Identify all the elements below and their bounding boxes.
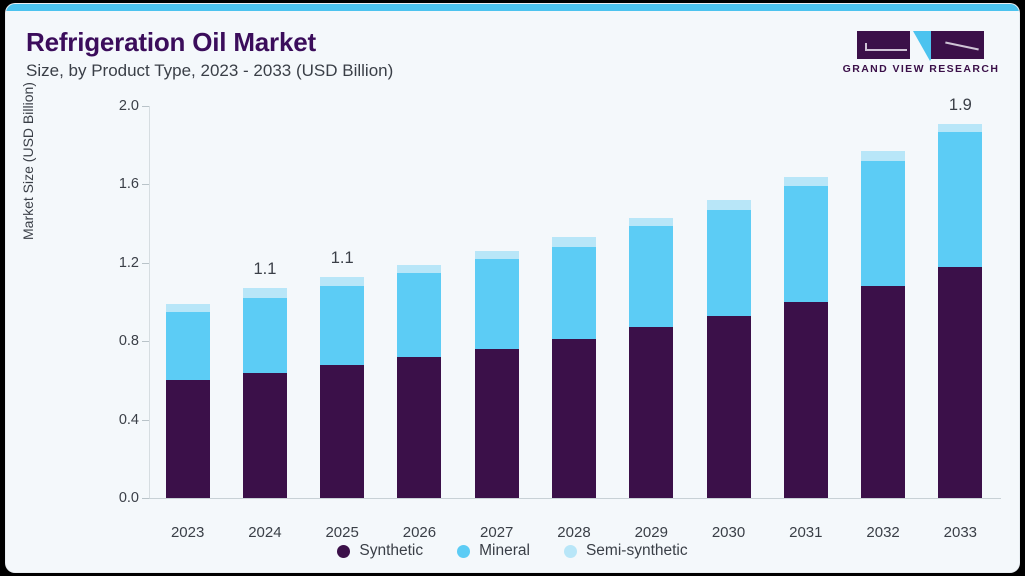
bar-segment-semi[interactable]: [320, 277, 364, 287]
x-axis-category-label: 2028: [535, 524, 612, 541]
y-tick-mark: [142, 498, 149, 499]
bar-segment-mineral[interactable]: [552, 247, 596, 339]
y-tick-label: 1.6: [119, 176, 139, 192]
page-subtitle: Size, by Product Type, 2023 - 2033 (USD …: [26, 61, 393, 81]
bar-stack[interactable]: [243, 288, 287, 498]
y-tick-mark: [142, 184, 149, 185]
y-tick-label: 2.0: [119, 98, 139, 114]
bar-segment-mineral[interactable]: [629, 226, 673, 328]
y-tick-label: 0.8: [119, 333, 139, 349]
bar-segment-semi[interactable]: [784, 177, 828, 187]
bar-segment-mineral[interactable]: [861, 161, 905, 286]
bar-stack[interactable]: [552, 237, 596, 498]
chart-card: Refrigeration Oil Market Size, by Produc…: [6, 4, 1019, 572]
x-axis-category-label: 2025: [304, 524, 381, 541]
bar-group[interactable]: [938, 106, 982, 498]
bar-segment-semi[interactable]: [861, 151, 905, 161]
bar-stack[interactable]: [475, 251, 519, 498]
bar-value-label: 1.1: [331, 249, 354, 268]
bar-segment-mineral[interactable]: [397, 273, 441, 357]
bar-segment-semi[interactable]: [552, 237, 596, 247]
bar-segment-synthetic[interactable]: [784, 302, 828, 498]
y-tick: 0.0: [149, 498, 999, 499]
bar-segment-mineral[interactable]: [938, 132, 982, 267]
y-axis-label: Market Size (USD Billion): [20, 40, 36, 240]
card-top-accent-bar: [6, 4, 1019, 11]
bar-group[interactable]: [166, 106, 210, 498]
bar-segment-mineral[interactable]: [320, 286, 364, 364]
chart-legend: SyntheticMineralSemi-synthetic: [6, 542, 1019, 560]
bar-stack[interactable]: [707, 200, 751, 498]
logo-wordmark: GRAND VIEW RESEARCH: [841, 63, 1001, 75]
y-tick-label: 1.2: [119, 255, 139, 271]
bar-group[interactable]: [243, 106, 287, 498]
bar-group[interactable]: [707, 106, 751, 498]
bar-stack[interactable]: [784, 177, 828, 498]
logo-right-rule: [945, 41, 979, 50]
legend-label: Synthetic: [359, 542, 423, 560]
y-tick-mark: [142, 420, 149, 421]
bar-value-label: 1.1: [253, 260, 276, 279]
bar-segment-synthetic[interactable]: [629, 327, 673, 498]
x-axis-category-label: 2027: [458, 524, 535, 541]
bar-segment-synthetic[interactable]: [166, 380, 210, 498]
bar-segment-semi[interactable]: [397, 265, 441, 273]
y-tick-label: 0.4: [119, 412, 139, 428]
bar-stack[interactable]: [938, 124, 982, 498]
bar-group[interactable]: [552, 106, 596, 498]
bar-stack[interactable]: [166, 304, 210, 498]
bar-group[interactable]: [629, 106, 673, 498]
bar-segment-synthetic[interactable]: [707, 316, 751, 498]
logo-box-left-icon: [857, 31, 910, 59]
bar-group[interactable]: [397, 106, 441, 498]
stacked-bar-chart: Market Size (USD Billion) 0.00.40.81.21.…: [6, 90, 1019, 572]
page-title: Refrigeration Oil Market: [26, 27, 316, 58]
bar-stack[interactable]: [320, 277, 364, 498]
x-axis-category-label: 2030: [690, 524, 767, 541]
legend-label: Semi-synthetic: [586, 542, 688, 560]
bar-segment-synthetic[interactable]: [938, 267, 982, 498]
bar-segment-semi[interactable]: [938, 124, 982, 132]
bar-segment-semi[interactable]: [629, 218, 673, 226]
bar-value-label: 1.9: [949, 96, 972, 115]
logo-box-right-icon: [931, 31, 984, 59]
bar-group[interactable]: [475, 106, 519, 498]
y-tick-mark: [142, 263, 149, 264]
bar-segment-mineral[interactable]: [243, 298, 287, 372]
brand-logo: GRAND VIEW RESEARCH: [841, 31, 1001, 81]
bar-segment-synthetic[interactable]: [320, 365, 364, 498]
x-axis-category-label: 2026: [381, 524, 458, 541]
bar-segment-synthetic[interactable]: [397, 357, 441, 498]
bar-segment-synthetic[interactable]: [861, 286, 905, 498]
bar-segment-synthetic[interactable]: [552, 339, 596, 498]
bar-segment-semi[interactable]: [475, 251, 519, 259]
legend-swatch-icon: [564, 545, 577, 558]
bar-segment-synthetic[interactable]: [243, 373, 287, 498]
y-tick-label: 0.0: [119, 490, 139, 506]
bar-segment-mineral[interactable]: [784, 186, 828, 302]
legend-item[interactable]: Semi-synthetic: [564, 542, 688, 560]
x-axis-category-label: 2032: [844, 524, 921, 541]
legend-item[interactable]: Synthetic: [337, 542, 423, 560]
bar-segment-semi[interactable]: [166, 304, 210, 312]
y-tick-mark: [142, 106, 149, 107]
bar-stack[interactable]: [629, 218, 673, 498]
bar-stack[interactable]: [397, 265, 441, 498]
logo-marks: [841, 31, 1001, 61]
logo-left-rule: [865, 49, 907, 51]
x-axis-category-label: 2023: [149, 524, 226, 541]
legend-label: Mineral: [479, 542, 530, 560]
legend-swatch-icon: [457, 545, 470, 558]
bar-stack[interactable]: [861, 151, 905, 498]
plot-area: 0.00.40.81.21.62.020231.120241.120252026…: [149, 106, 999, 498]
bar-segment-mineral[interactable]: [475, 259, 519, 349]
bar-group[interactable]: [861, 106, 905, 498]
x-axis-category-label: 2033: [922, 524, 999, 541]
bar-group[interactable]: [784, 106, 828, 498]
bar-segment-semi[interactable]: [707, 200, 751, 210]
legend-item[interactable]: Mineral: [457, 542, 530, 560]
y-tick-mark: [142, 341, 149, 342]
x-axis-category-label: 2029: [613, 524, 690, 541]
bar-segment-mineral[interactable]: [707, 210, 751, 316]
bar-group[interactable]: [320, 106, 364, 498]
legend-swatch-icon: [337, 545, 350, 558]
bar-segment-mineral[interactable]: [166, 312, 210, 381]
chart-header: Refrigeration Oil Market Size, by Produc…: [6, 11, 1019, 89]
x-axis-category-label: 2031: [767, 524, 844, 541]
bar-segment-semi[interactable]: [243, 288, 287, 298]
bar-segment-synthetic[interactable]: [475, 349, 519, 498]
x-axis-category-label: 2024: [226, 524, 303, 541]
